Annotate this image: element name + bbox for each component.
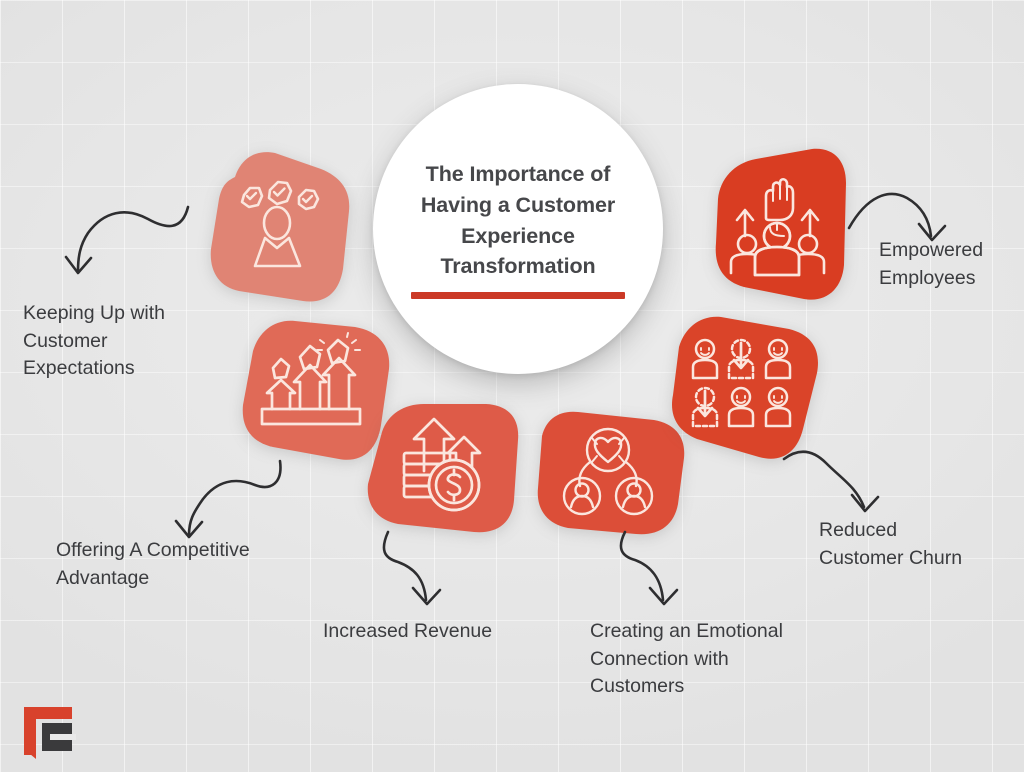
node-blob-keeping-up[interactable] — [203, 141, 351, 306]
node-blob-reduced-churn[interactable] — [663, 303, 823, 467]
label-competitive-advantage: Offering A Competitive Advantage — [56, 537, 306, 592]
blob-shape-reduced-churn — [672, 317, 818, 459]
label-increased-revenue: Increased Revenue — [323, 618, 543, 646]
label-empowered-employees: Empowered Employees — [879, 237, 1024, 292]
blob-shape-increased-revenue — [368, 404, 518, 532]
blob-shape-keeping-up — [211, 152, 350, 301]
page-title: The Importance of Having a Customer Expe… — [404, 159, 632, 281]
brand-logo-f-icon[interactable] — [20, 703, 76, 759]
node-blob-increased-revenue[interactable] — [358, 392, 522, 538]
label-reduced-churn: Reduced Customer Churn — [819, 517, 1019, 572]
node-blob-empowered-employees[interactable] — [700, 141, 852, 311]
connector-increased-revenue — [370, 530, 480, 625]
center-title-circle: The Importance of Having a Customer Expe… — [373, 84, 663, 374]
title-underline — [411, 292, 625, 299]
label-emotional-connection: Creating an Emotional Connection with Cu… — [590, 618, 825, 701]
logo-dark-notch — [50, 734, 76, 740]
connector-emotional-connection — [605, 530, 715, 625]
infographic-canvas: Keeping Up with Customer Expectations Of… — [0, 0, 1024, 772]
label-keeping-up: Keeping Up with Customer Expectations — [23, 300, 223, 383]
blob-shape-empowered-employees — [716, 149, 846, 300]
connector-keeping-up — [60, 195, 200, 295]
